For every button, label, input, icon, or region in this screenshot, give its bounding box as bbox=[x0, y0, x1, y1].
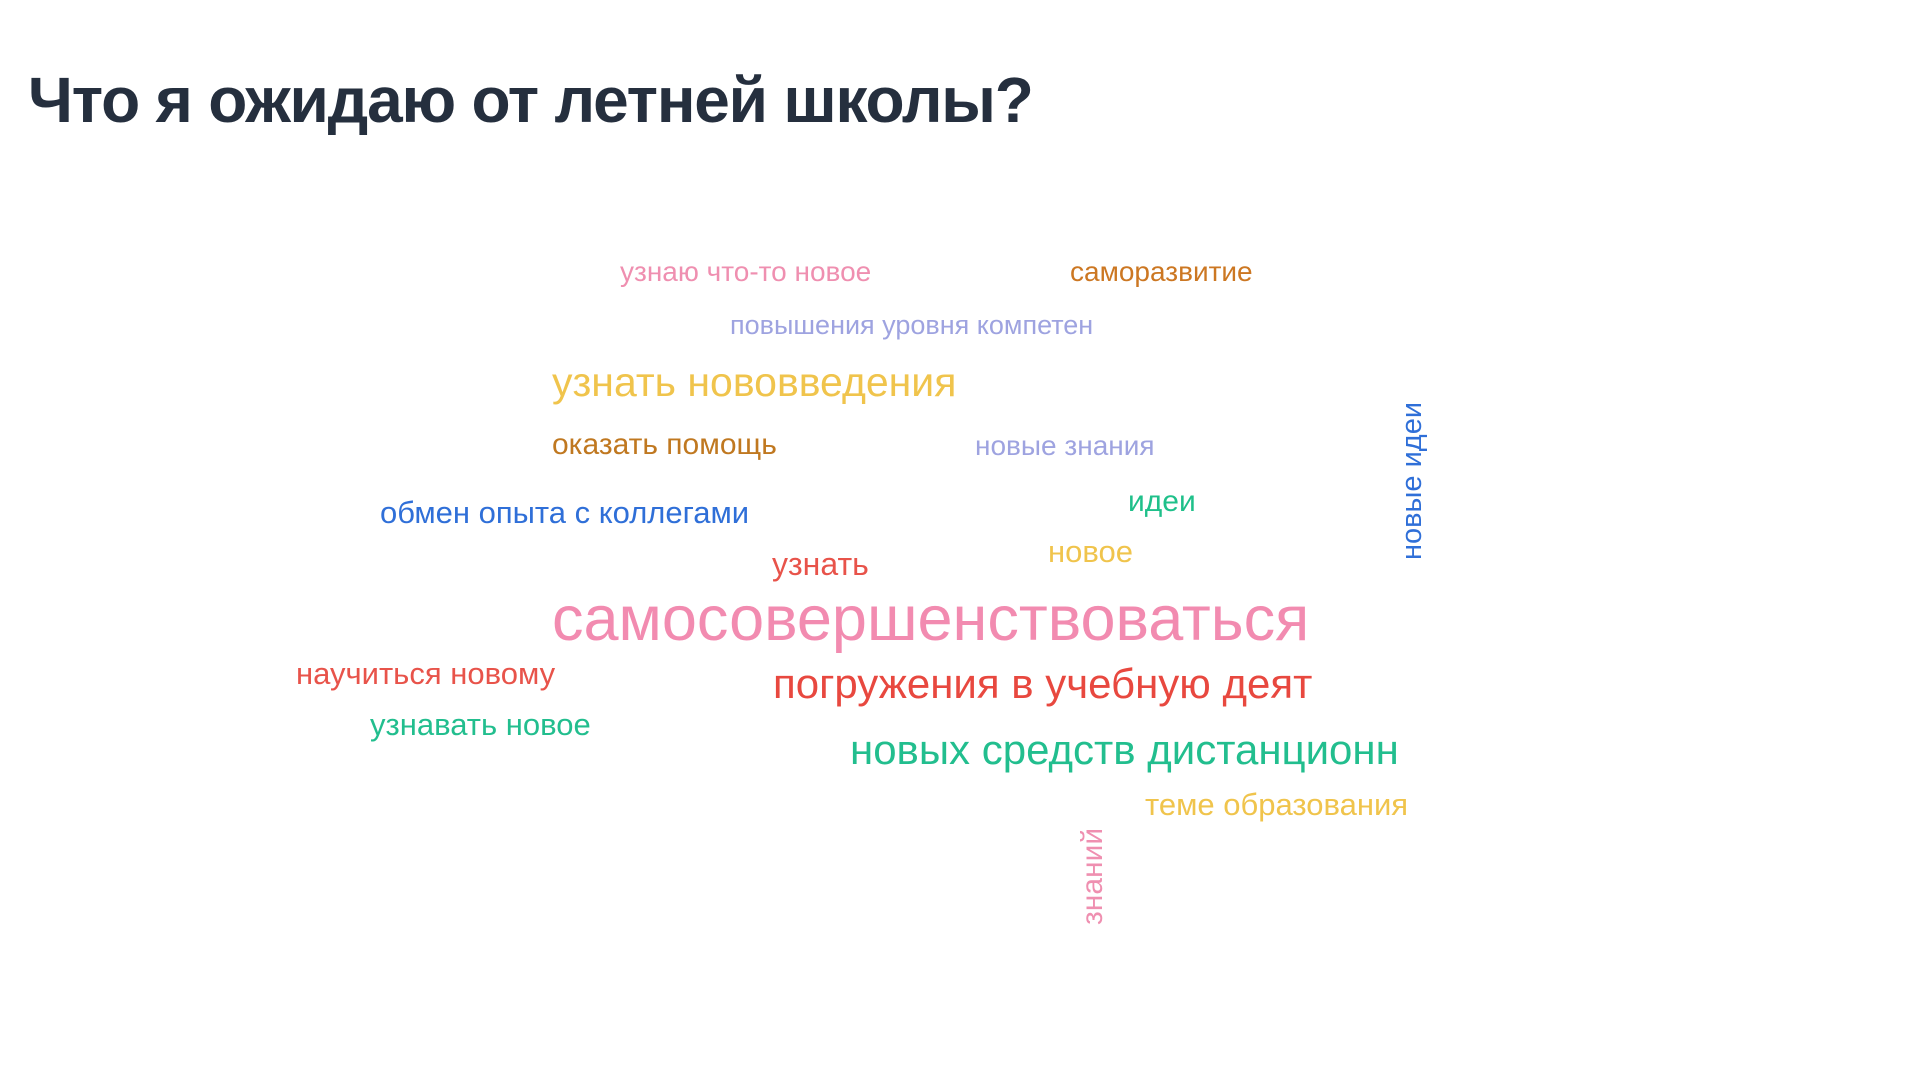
cloud-word[interactable]: повышения уровня компетен bbox=[730, 312, 1093, 339]
cloud-word[interactable]: узнать нововведения bbox=[552, 362, 956, 403]
cloud-word[interactable]: идеи bbox=[1128, 487, 1196, 517]
cloud-word[interactable]: новые знания bbox=[975, 432, 1155, 460]
cloud-word[interactable]: обмен опыта с коллегами bbox=[380, 497, 749, 528]
cloud-word[interactable]: теме образования bbox=[1145, 789, 1408, 820]
cloud-word[interactable]: саморазвитие bbox=[1070, 258, 1253, 286]
cloud-word[interactable]: новое bbox=[1048, 536, 1133, 567]
slide-canvas: Что я ожидаю от летней школы? узнаю что-… bbox=[0, 0, 1920, 1080]
cloud-word[interactable]: узнавать новое bbox=[370, 709, 591, 740]
cloud-word[interactable]: знаний bbox=[1078, 828, 1108, 925]
cloud-word[interactable]: погружения в учебную деят bbox=[773, 663, 1312, 705]
word-cloud: узнаю что-то новоесаморазвитиеповышения … bbox=[0, 0, 1920, 1080]
cloud-word[interactable]: новых средств дистанционн bbox=[850, 729, 1399, 771]
cloud-word[interactable]: оказать помощь bbox=[552, 430, 777, 460]
cloud-word[interactable]: научиться новому bbox=[296, 658, 555, 689]
cloud-word[interactable]: узнаю что-то новое bbox=[620, 258, 871, 286]
cloud-word[interactable]: самосовершенствоваться bbox=[552, 588, 1309, 651]
cloud-word[interactable]: новые идеи bbox=[1398, 402, 1427, 560]
cloud-word[interactable]: узнать bbox=[772, 548, 869, 580]
